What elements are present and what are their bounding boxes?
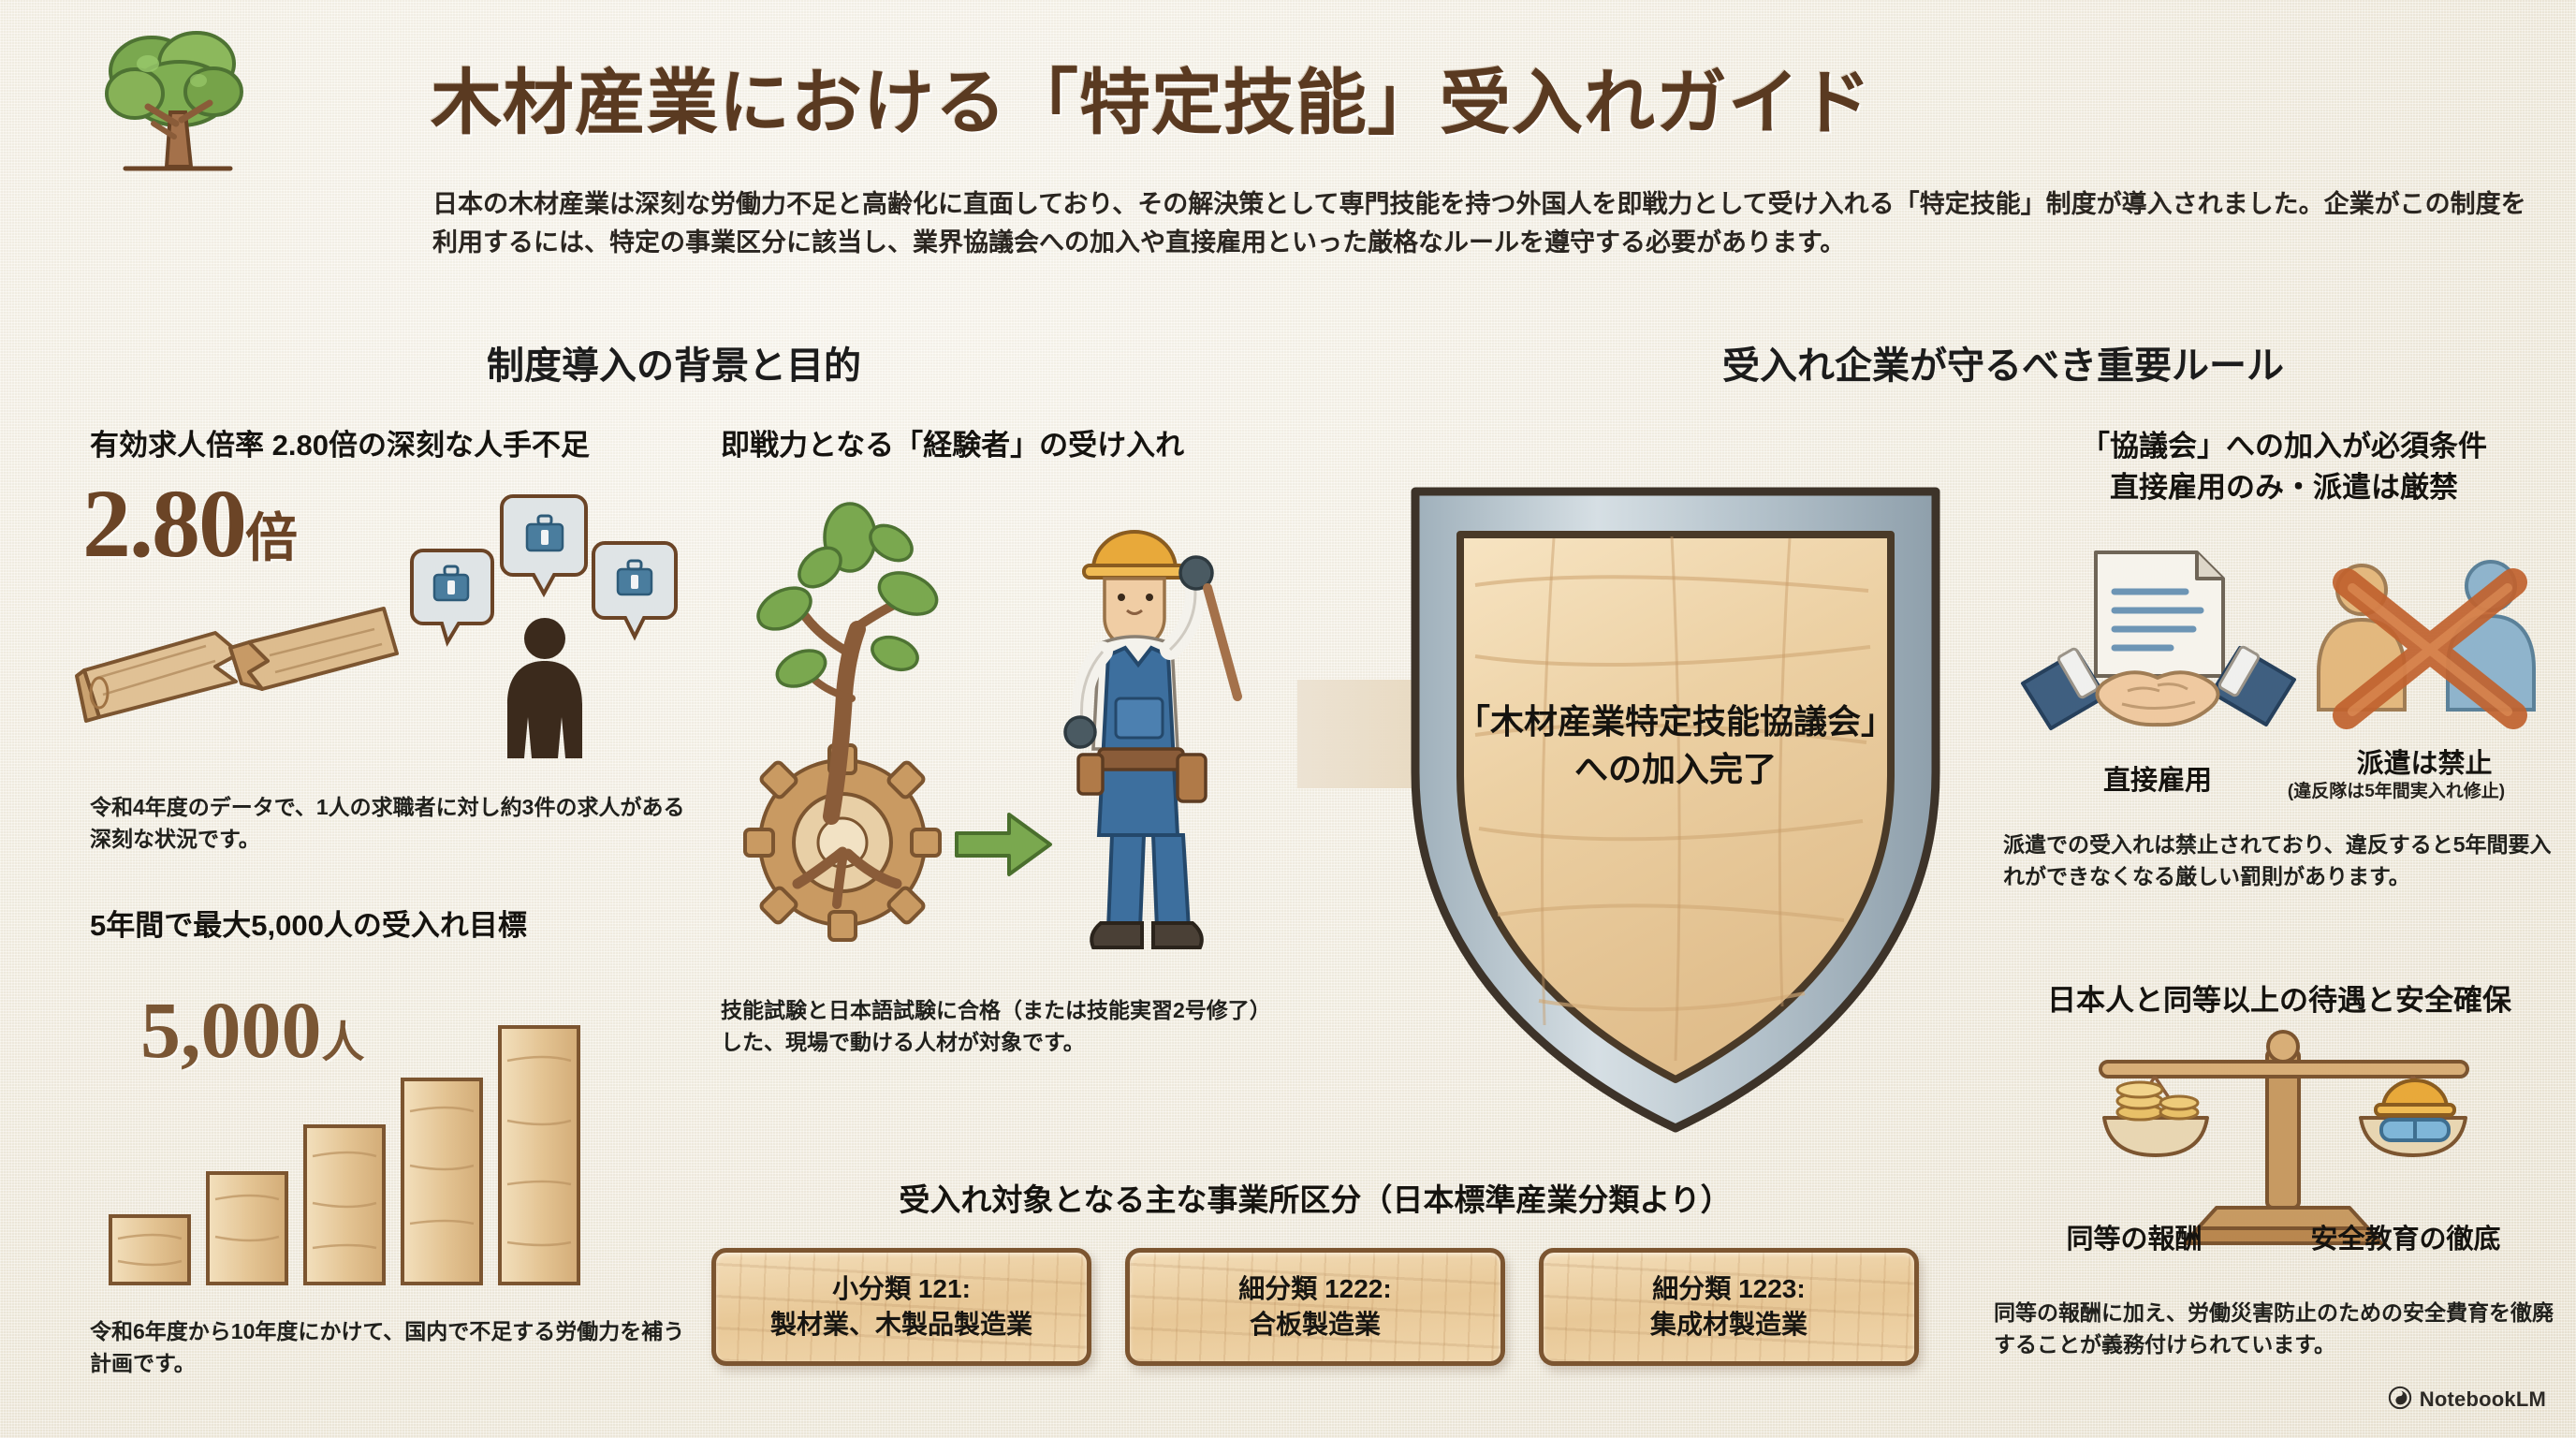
- plaque-code: 細分類 1222:: [1238, 1271, 1391, 1307]
- plaques-heading: 受入れ対象となる主な事業所区分（日本標準産業分類より）: [711, 1175, 1919, 1220]
- growing-tree-worker-illustration: [711, 468, 1292, 992]
- rule1-caption: 派遣での受入れは禁止されており、違反すると5年間要入れができなくなる厳しい罰則が…: [2003, 829, 2565, 892]
- section-heading-rules: 受入れ企業が守るべき重要ルール: [1460, 335, 2546, 389]
- page-title: 木材産業における「特定技能」受入れガイド: [431, 45, 2546, 148]
- arrow-right-icon: [957, 814, 1050, 874]
- watermark-text: NotebookLM: [2420, 1387, 2546, 1412]
- plaque-name: 製材業、木製品製造業: [770, 1307, 1032, 1343]
- sublabel-dispatch-prohibited: (違反隊は5年間実入れ修止): [2218, 777, 2574, 802]
- page-subtitle: 日本の木材産業は深刻な労働力不足と高齢化に直面しており、その解決策として専門技能…: [432, 185, 2543, 262]
- balance-scale-icon: [2050, 1030, 2518, 1245]
- label-safety-education: 安全教育の徹底: [2265, 1217, 2546, 1256]
- plaque-code: 細分類 1223:: [1652, 1271, 1805, 1307]
- stat-caption-target: 令和6年度から10年度にかけて、国内で不足する労働力を補う計画です。: [90, 1315, 689, 1379]
- stat-title-target: 5年間で最大5,000人の受入れ目標: [90, 902, 726, 944]
- no-dispatch-cross-icon: [2298, 543, 2560, 749]
- job-demand-icon-group: [402, 487, 721, 768]
- stat-caption-job-ratio: 令和4年度のデータで、1人の求職者に対し約3件の求人がある深刻な状況です。: [90, 791, 689, 855]
- label-equal-pay: 同等の報酬: [2022, 1217, 2247, 1256]
- shield-label-line2: への加入完了: [1432, 745, 1919, 793]
- plaque-name: 集成材製造業: [1650, 1307, 1808, 1343]
- rule2-caption: 同等の報酬に加え、労働災害防止のための安全費育を徹廃することが義務付けられていま…: [1994, 1297, 2574, 1360]
- section-heading-background: 制度導入の背景と目的: [75, 335, 1273, 389]
- label-dispatch-prohibited: 派遣は禁止: [2279, 741, 2569, 781]
- construction-worker-icon: [1065, 532, 1237, 947]
- shield-label: 「木材産業特定技能協議会」 への加入完了: [1432, 697, 1919, 793]
- stat-title-job-ratio: 有効求人倍率 2.80倍の深刻な人手不足: [90, 421, 708, 463]
- wooden-shield-icon: [1385, 454, 1966, 1166]
- plaque-item[interactable]: 細分類 1222: 合板製造業: [1125, 1248, 1505, 1366]
- stat-number: 2.80: [82, 470, 245, 578]
- rule1-title-line1: 「協議会」への加入が必須条件: [1994, 426, 2574, 467]
- middle-card-caption: 技能試験と日本語試験に合格（または技能実習2号修了）した、現場で動ける人材が対象…: [721, 994, 1264, 1058]
- rule1-title-line2: 直接雇用のみ・派遣は厳禁: [1994, 467, 2574, 508]
- tree-icon: [94, 26, 262, 176]
- shield-label-line1: 「木材産業特定技能協議会」: [1432, 697, 1919, 745]
- rule2-title: 日本人と同等以上の待遇と安全確保: [1984, 976, 2574, 1019]
- plaque-code: 小分類 121:: [832, 1271, 971, 1307]
- notebooklm-logo-icon: [2388, 1386, 2412, 1415]
- middle-card-title: 即戦力となる「経験者」の受け入れ: [721, 421, 1282, 463]
- watermark: NotebookLM: [2312, 1384, 2546, 1416]
- plaque-row: 小分類 121: 製材業、木製品製造業 細分類 1222: 合板製造業 細分類 …: [711, 1248, 1919, 1368]
- plaque-item[interactable]: 小分類 121: 製材業、木製品製造業: [711, 1248, 1091, 1366]
- plaque-item[interactable]: 細分類 1223: 集成材製造業: [1539, 1248, 1919, 1366]
- rule1-title: 「協議会」への加入が必須条件 直接雇用のみ・派遣は厳禁: [1994, 426, 2574, 508]
- bar-chart-wood-icon: [94, 1006, 674, 1297]
- plaque-name: 合板製造業: [1250, 1307, 1381, 1343]
- stat-unit: 倍: [245, 508, 296, 567]
- handshake-document-icon: [2017, 543, 2298, 749]
